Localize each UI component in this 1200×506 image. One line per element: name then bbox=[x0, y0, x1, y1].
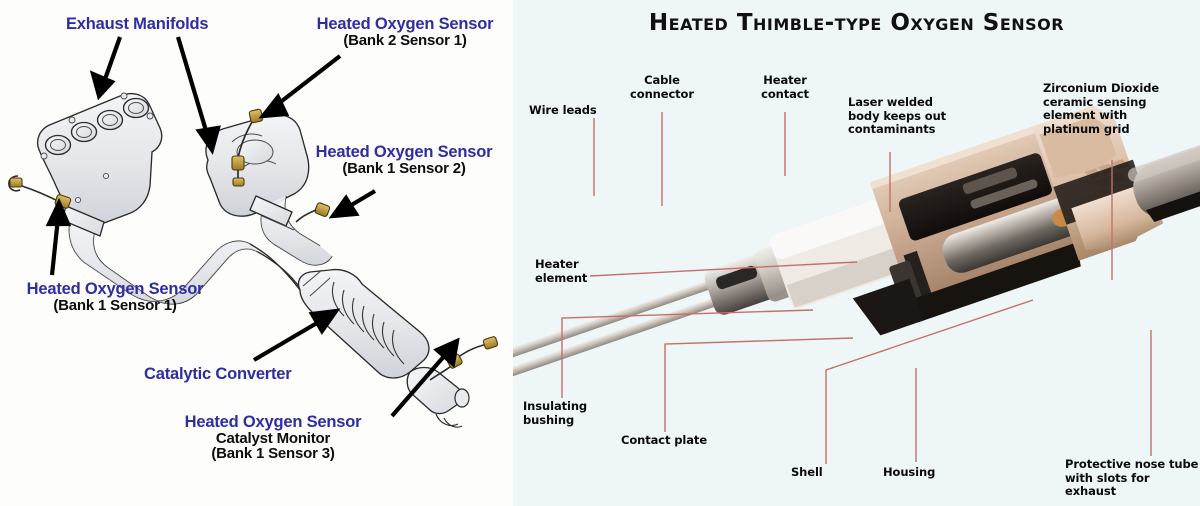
label-ho2s-bank1-sensor1-sub: (Bank 1 Sensor 1) bbox=[6, 298, 224, 313]
label-ho2s-catalyst-monitor: Heated Oxygen Sensor Catalyst Monitor (B… bbox=[140, 414, 406, 461]
label-ho2s-bank1-sensor1: Heated Oxygen Sensor (Bank 1 Sensor 1) bbox=[6, 281, 224, 313]
label-ho2s-bank1-sensor2-title: Heated Oxygen Sensor bbox=[298, 144, 510, 161]
exhaust-system-diagram-panel: Exhaust Manifolds Heated Oxygen Sensor (… bbox=[0, 0, 513, 506]
callout-zirconium-line3: element with bbox=[1043, 109, 1159, 123]
callout-insulating-bushing-line2: bushing bbox=[523, 414, 587, 428]
label-ho2s-bank1-sensor1-title: Heated Oxygen Sensor bbox=[6, 281, 224, 298]
label-catalyst-monitor-sub2: (Bank 1 Sensor 3) bbox=[140, 446, 406, 461]
callout-laser-welded-line3: contaminants bbox=[848, 123, 946, 137]
callout-heater-contact: Heater contact bbox=[741, 74, 829, 101]
callout-cable-connector: Cable connector bbox=[613, 74, 711, 101]
callout-laser-welded-line2: body keeps out bbox=[848, 110, 946, 124]
callout-cable-connector-line2: connector bbox=[613, 88, 711, 102]
label-ho2s-bank1-sensor2-sub: (Bank 1 Sensor 2) bbox=[298, 161, 510, 176]
callout-heater-contact-line1: Heater bbox=[741, 74, 829, 88]
label-ho2s-bank2-sensor1-title: Heated Oxygen Sensor bbox=[300, 16, 510, 33]
label-exhaust-manifolds: Exhaust Manifolds bbox=[66, 16, 208, 33]
oxygen-sensor-diagram-page: Exhaust Manifolds Heated Oxygen Sensor (… bbox=[0, 0, 1200, 506]
oxygen-sensor-cutaway-panel: Heated Thimble-type Oxygen Sensor bbox=[513, 0, 1200, 506]
label-catalytic-converter: Catalytic Converter bbox=[144, 366, 292, 383]
callout-heater-element-line1: Heater bbox=[535, 258, 587, 272]
callout-wire-leads: Wire leads bbox=[529, 104, 597, 118]
label-catalyst-monitor-sub1: Catalyst Monitor bbox=[140, 431, 406, 446]
callout-contact-plate: Contact plate bbox=[621, 434, 707, 448]
label-ho2s-bank2-sensor1-sub: (Bank 2 Sensor 1) bbox=[300, 33, 510, 48]
label-catalyst-monitor-title: Heated Oxygen Sensor bbox=[140, 414, 406, 431]
callout-heater-element-line2: element bbox=[535, 272, 587, 286]
callout-insulating-bushing-line1: Insulating bbox=[523, 400, 587, 414]
callout-zirconium-line2: ceramic sensing bbox=[1043, 96, 1159, 110]
label-ho2s-bank2-sensor1: Heated Oxygen Sensor (Bank 2 Sensor 1) bbox=[300, 16, 510, 48]
callout-zirconium-line4: platinum grid bbox=[1043, 123, 1159, 137]
callout-protective-nose-tube: Protective nose tube with slots for exha… bbox=[1065, 458, 1200, 499]
callout-nose-tube-line2: with slots for exhaust bbox=[1065, 472, 1200, 499]
callout-zirconium-line1: Zirconium Dioxide bbox=[1043, 82, 1159, 96]
label-ho2s-bank1-sensor2: Heated Oxygen Sensor (Bank 1 Sensor 2) bbox=[298, 144, 510, 176]
callout-housing: Housing bbox=[883, 466, 935, 480]
callout-cable-connector-line1: Cable bbox=[613, 74, 711, 88]
callout-heater-element: Heater element bbox=[535, 258, 587, 285]
callout-laser-welded-line1: Laser welded bbox=[848, 96, 946, 110]
callout-nose-tube-line1: Protective nose tube bbox=[1065, 458, 1200, 472]
callout-shell: Shell bbox=[791, 466, 823, 480]
callout-insulating-bushing: Insulating bushing bbox=[523, 400, 587, 427]
callout-zirconium-dioxide: Zirconium Dioxide ceramic sensing elemen… bbox=[1043, 82, 1159, 136]
callout-heater-contact-line2: contact bbox=[741, 88, 829, 102]
callout-laser-welded-body: Laser welded body keeps out contaminants bbox=[848, 96, 946, 137]
